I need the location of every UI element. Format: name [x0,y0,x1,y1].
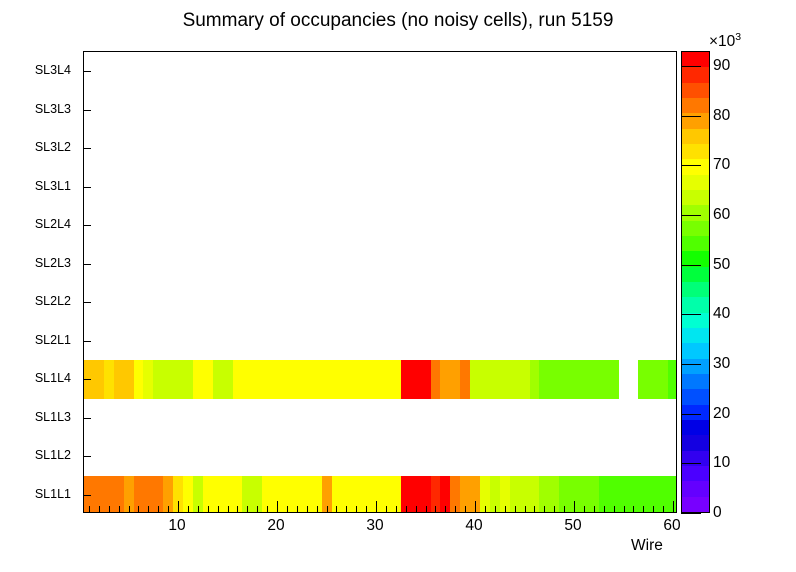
x-axis-minor-tick [515,506,516,512]
palette-swatch [682,327,709,343]
y-axis-tick [84,379,91,380]
y-axis-tick-label-sl2l1: SL2L1 [0,333,71,347]
palette-exponent-power: 3 [735,31,741,43]
x-axis-tick-label: 40 [465,517,482,535]
palette-tick-label: 70 [713,156,730,174]
x-axis-minor-tick [445,506,446,512]
heatmap-cell [609,360,620,399]
x-axis-major-tick [178,501,179,512]
x-axis-minor-tick [307,506,308,512]
y-axis-tick [84,418,91,419]
x-axis-minor-tick [633,506,634,512]
x-axis-minor-tick [247,506,248,512]
y-axis-tick-label-sl3l4: SL3L4 [0,63,71,77]
palette-swatch [682,174,709,190]
palette-swatch [682,419,709,435]
x-axis-minor-tick [643,506,644,512]
palette-swatch [682,373,709,389]
heatmap-cell [668,476,676,513]
x-axis-minor-tick [396,506,397,512]
x-axis-minor-tick [317,506,318,512]
x-axis-minor-tick [356,506,357,512]
palette-tick-label: 40 [713,305,730,323]
y-axis-tick-label-sl2l3: SL2L3 [0,256,71,270]
palette-swatch [682,220,709,236]
palette-swatch [682,97,709,113]
x-axis-minor-tick [138,506,139,512]
x-axis-minor-tick [505,506,506,512]
palette-swatch [682,435,709,451]
x-axis-tick-label: 10 [168,517,185,535]
x-axis-minor-tick [485,506,486,512]
palette-tick [681,116,701,117]
x-axis-minor-tick [218,506,219,512]
page-title: Summary of occupancies (no noisy cells),… [0,10,796,32]
y-axis-tick [84,302,91,303]
x-axis-major-tick [376,501,377,512]
x-axis-minor-tick [228,506,229,512]
palette-swatch [682,266,709,282]
y-axis-tick [84,148,91,149]
x-axis-minor-tick [168,506,169,512]
y-axis-tick-label-sl1l3: SL1L3 [0,410,71,424]
x-axis-minor-tick [614,506,615,512]
x-axis-minor-tick [158,506,159,512]
y-axis-tick-label-sl1l4: SL1L4 [0,371,71,385]
palette-swatch [682,404,709,420]
root-canvas: Summary of occupancies (no noisy cells),… [0,0,796,572]
palette-swatch [682,143,709,159]
heatmap-plot-area[interactable] [84,52,676,512]
palette-tick-label: 0 [713,504,722,522]
x-axis-minor-tick [525,506,526,512]
palette-swatch [682,82,709,98]
x-axis-minor-tick [594,506,595,512]
heatmap-cell [668,360,676,399]
palette-swatch [682,389,709,405]
x-axis-minor-tick [604,506,605,512]
x-axis-major-tick [277,501,278,512]
palette-swatch [682,343,709,359]
y-axis-tick [84,456,91,457]
x-axis-minor-tick [287,506,288,512]
x-axis-major-tick [574,501,575,512]
x-axis-minor-tick [188,506,189,512]
x-axis-minor-tick [237,506,238,512]
x-axis-minor-tick [653,506,654,512]
palette-exponent-base: ×10 [709,33,735,50]
y-axis-tick [84,187,91,188]
palette-swatch [682,67,709,83]
y-axis-tick [84,225,91,226]
y-axis-tick-label-sl3l2: SL3L2 [0,140,71,154]
x-axis-minor-tick [465,506,466,512]
x-axis-minor-tick [564,506,565,512]
y-axis-tick [84,341,91,342]
y-axis-tick-label-sl1l2: SL1L2 [0,448,71,462]
x-axis-minor-tick [129,506,130,512]
y-axis-tick [84,495,91,496]
palette-tick [681,314,701,315]
x-axis-minor-tick [435,506,436,512]
y-axis-tick [84,71,91,72]
palette-swatch [682,481,709,497]
palette-tick [681,165,701,166]
x-axis-minor-tick [495,506,496,512]
palette-tick [681,215,701,216]
palette-tick-label: 30 [713,355,730,373]
palette-tick [681,463,701,464]
x-axis-minor-tick [416,506,417,512]
x-axis-minor-tick [406,506,407,512]
palette-swatch [682,297,709,313]
palette-exponent-label: ×103 [709,31,741,51]
x-axis-minor-tick [119,506,120,512]
palette-tick-label: 20 [713,405,730,423]
x-axis-minor-tick [346,506,347,512]
palette-tick [681,414,701,415]
y-axis-tick-label-sl2l2: SL2L2 [0,294,71,308]
palette-swatch [682,358,709,374]
x-axis-minor-tick [267,506,268,512]
x-axis-minor-tick [554,506,555,512]
palette-tick [681,265,701,266]
y-axis-tick-label-sl3l1: SL3L1 [0,179,71,193]
palette-swatch [682,465,709,481]
y-axis-tick-label-sl2l4: SL2L4 [0,217,71,231]
palette-tick-label: 60 [713,206,730,224]
x-axis-tick-label: 50 [564,517,581,535]
x-axis-minor-tick [426,506,427,512]
x-axis-minor-tick [584,506,585,512]
x-axis-minor-tick [336,506,337,512]
palette-tick-label: 10 [713,454,730,472]
x-axis-minor-tick [534,506,535,512]
x-axis-tick-label: 30 [366,517,383,535]
x-axis-minor-tick [386,506,387,512]
x-axis-minor-tick [109,506,110,512]
x-axis-minor-tick [89,506,90,512]
x-axis-minor-tick [663,506,664,512]
palette-tick [681,66,701,67]
palette-tick [681,513,701,514]
color-palette-bar [681,51,710,513]
palette-tick-label: 90 [713,57,730,75]
x-axis-tick-label: 20 [267,517,284,535]
x-axis-minor-tick [99,506,100,512]
x-axis-minor-tick [297,506,298,512]
x-axis-minor-tick [257,506,258,512]
palette-swatch [682,281,709,297]
x-axis-minor-tick [208,506,209,512]
palette-swatch [682,496,709,512]
x-axis-major-tick [475,501,476,512]
palette-tick-label: 50 [713,256,730,274]
y-axis-tick-label-sl1l1: SL1L1 [0,487,71,501]
x-axis-minor-tick [455,506,456,512]
y-axis-tick [84,264,91,265]
x-axis-major-tick [673,501,674,512]
x-axis-minor-tick [327,506,328,512]
y-axis-tick [84,110,91,111]
x-axis-minor-tick [624,506,625,512]
palette-tick-label: 80 [713,107,730,125]
palette-swatch [682,128,709,144]
x-axis-minor-tick [148,506,149,512]
x-axis-minor-tick [366,506,367,512]
x-axis-minor-tick [544,506,545,512]
x-axis-title: Wire [631,537,663,555]
palette-swatch [682,235,709,251]
palette-swatch [682,205,709,221]
plot-frame [83,51,677,513]
x-axis-minor-tick [198,506,199,512]
palette-swatch [682,159,709,175]
x-axis-tick-label: 60 [663,517,680,535]
palette-swatch [682,189,709,205]
y-axis-tick-label-sl3l3: SL3L3 [0,102,71,116]
palette-tick [681,364,701,365]
